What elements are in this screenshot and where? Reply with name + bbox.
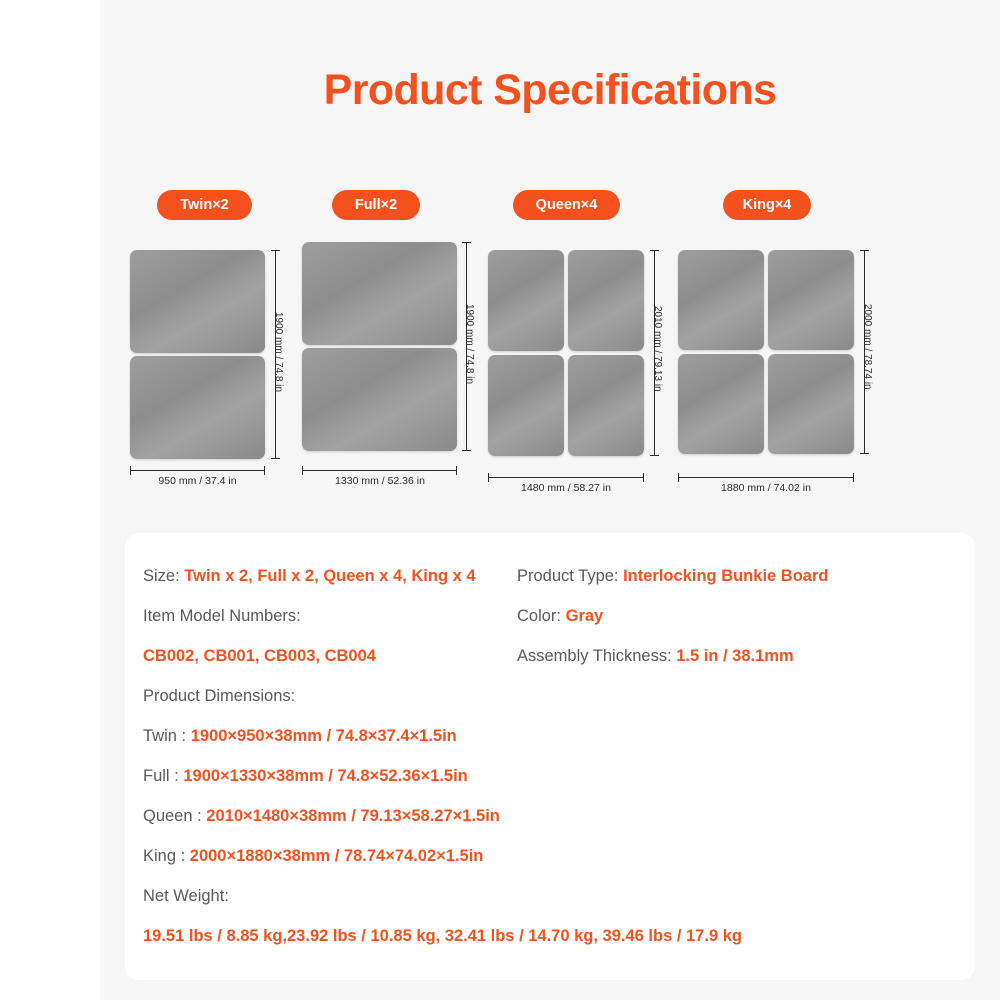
board-panel <box>130 356 265 459</box>
spec-size-value: Twin x 2, Full x 2, Queen x 4, King x 4 <box>184 567 475 585</box>
spec-size: Size: Twin x 2, Full x 2, Queen x 4, Kin… <box>143 567 476 586</box>
width-dimension-line-queen <box>488 477 644 478</box>
product-spec-page: Product Specifications Twin×2 1900 mm / … <box>100 0 1000 1000</box>
width-dimension-label-full: 1330 mm / 52.36 in <box>295 475 465 487</box>
badge-full: Full×2 <box>332 190 420 220</box>
height-dimension-label-full: 1900 mm / 74.8 in <box>464 304 475 384</box>
spec-dimension-queen-value: 2010×1480×38mm / 79.13×58.27×1.5in <box>206 807 500 825</box>
spec-net-weight-value: 19.51 lbs / 8.85 kg,23.92 lbs / 10.85 kg… <box>143 927 742 945</box>
board-panel <box>130 250 265 353</box>
spec-model-numbers-value-row: CB002, CB001, CB003, CB004 <box>143 647 376 666</box>
spec-dimension-queen-label: Queen : <box>143 807 206 825</box>
board-panel <box>768 354 854 454</box>
width-dimension-line-twin <box>130 470 265 471</box>
spec-color-label: Color: <box>517 607 566 625</box>
spec-model-numbers-label: Item Model Numbers: <box>143 607 301 625</box>
board-panel <box>678 354 764 454</box>
boards-twin <box>130 250 265 459</box>
spec-dimension-full-value: 1900×1330×38mm / 74.8×52.36×1.5in <box>183 767 467 785</box>
spec-dimension-full: Full : 1900×1330×38mm / 74.8×52.36×1.5in <box>143 767 468 786</box>
spec-product-dimensions: Product Dimensions: <box>143 687 295 706</box>
spec-dimension-king-value: 2000×1880×38mm / 78.74×74.02×1.5in <box>190 847 484 865</box>
specifications-card: Size: Twin x 2, Full x 2, Queen x 4, Kin… <box>125 533 975 980</box>
spec-net-weight: Net Weight: <box>143 887 229 906</box>
board-panel <box>488 250 564 351</box>
height-dimension-label-twin: 1900 mm / 74.8 in <box>273 312 284 392</box>
size-diagrams: Twin×2 1900 mm / 74.8 in 950 mm / 37.4 i… <box>100 190 1000 510</box>
width-dimension-label-queen: 1480 mm / 58.27 in <box>480 482 652 494</box>
spec-size-label: Size: <box>143 567 184 585</box>
spec-color: Color: Gray <box>517 607 603 626</box>
boards-full <box>302 242 457 451</box>
spec-assembly-thickness: Assembly Thickness: 1.5 in / 38.1mm <box>517 647 794 666</box>
width-dimension-label-twin: 950 mm / 37.4 in <box>125 475 270 487</box>
badge-king: King×4 <box>723 190 811 220</box>
spec-assembly-thickness-label: Assembly Thickness: <box>517 647 676 665</box>
board-panel <box>488 355 564 456</box>
board-panel <box>302 242 457 345</box>
page-title: Product Specifications <box>100 66 1000 115</box>
badge-twin: Twin×2 <box>157 190 252 220</box>
boards-king <box>678 250 854 454</box>
width-dimension-line-full <box>302 470 457 471</box>
spec-dimension-king: King : 2000×1880×38mm / 78.74×74.02×1.5i… <box>143 847 483 866</box>
spec-assembly-thickness-value: 1.5 in / 38.1mm <box>676 647 793 665</box>
spec-product-type-value: Interlocking Bunkie Board <box>623 567 828 585</box>
spec-net-weight-label: Net Weight: <box>143 887 229 905</box>
spec-dimension-full-label: Full : <box>143 767 183 785</box>
board-panel <box>568 250 644 351</box>
height-dimension-label-king: 2000 mm / 78.74 in <box>862 304 873 390</box>
spec-dimension-twin: Twin : 1900×950×38mm / 74.8×37.4×1.5in <box>143 727 457 746</box>
spec-dimension-twin-label: Twin : <box>143 727 191 745</box>
spec-dimension-twin-value: 1900×950×38mm / 74.8×37.4×1.5in <box>191 727 457 745</box>
spec-color-value: Gray <box>566 607 604 625</box>
spec-dimension-king-label: King : <box>143 847 190 865</box>
board-panel <box>678 250 764 350</box>
spec-product-dimensions-label: Product Dimensions: <box>143 687 295 705</box>
boards-queen <box>488 250 644 456</box>
badge-queen: Queen×4 <box>513 190 620 220</box>
height-dimension-label-queen: 2010 mm / 79.13 in <box>652 306 663 392</box>
spec-dimension-queen: Queen : 2010×1480×38mm / 79.13×58.27×1.5… <box>143 807 500 826</box>
width-dimension-label-king: 1880 mm / 74.02 in <box>673 482 859 494</box>
board-panel <box>768 250 854 350</box>
spec-model-numbers-value: CB002, CB001, CB003, CB004 <box>143 647 376 665</box>
spec-product-type-label: Product Type: <box>517 567 623 585</box>
board-panel <box>302 348 457 451</box>
spec-product-type: Product Type: Interlocking Bunkie Board <box>517 567 828 586</box>
spec-model-numbers: Item Model Numbers: <box>143 607 301 626</box>
width-dimension-line-king <box>678 477 854 478</box>
spec-net-weight-value-row: 19.51 lbs / 8.85 kg,23.92 lbs / 10.85 kg… <box>143 927 742 946</box>
board-panel <box>568 355 644 456</box>
